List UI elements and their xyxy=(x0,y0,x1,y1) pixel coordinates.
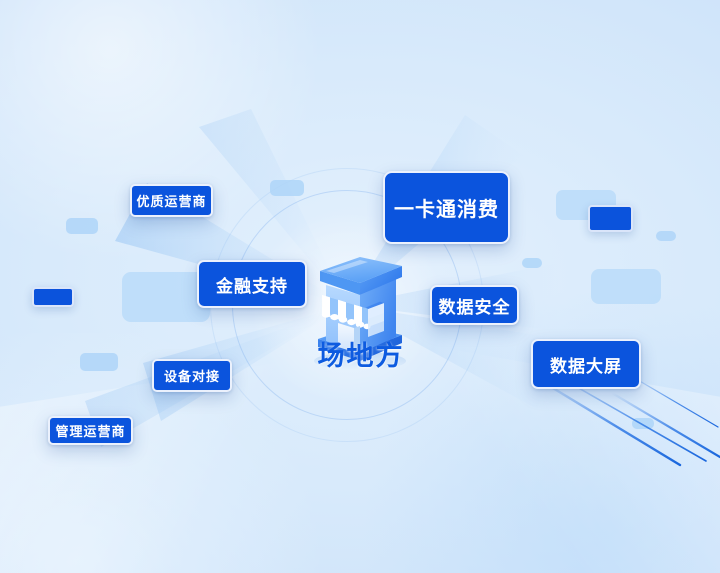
node-card-shuju-anquan[interactable]: 数据安全 xyxy=(430,285,519,325)
node-card-shuju-daping[interactable]: 数据大屏 xyxy=(531,339,641,389)
decor-rect-3 xyxy=(80,353,118,371)
decor-rect-4 xyxy=(270,180,304,196)
node-card-jinrong-zhichi[interactable]: 金融支持 xyxy=(197,260,307,308)
decor-rect-solid-left xyxy=(32,287,74,307)
decor-rect-7 xyxy=(522,258,542,268)
node-card-shebei-duijie[interactable]: 设备对接 xyxy=(152,359,232,392)
decor-rect-8 xyxy=(591,269,661,304)
decor-rect-solid-right xyxy=(588,205,633,232)
node-card-yikatong-xiaofei[interactable]: 一卡通消费 xyxy=(383,171,510,244)
node-card-guanli-yunyingshang[interactable]: 管理运营商 xyxy=(48,416,133,445)
decor-rect-5 xyxy=(556,190,616,220)
decor-rect-1 xyxy=(66,218,98,234)
decor-rect-6 xyxy=(656,231,676,241)
node-card-youzhi-yunyingshang[interactable]: 优质运营商 xyxy=(130,184,213,217)
hub-label: 场地方 xyxy=(268,334,454,373)
illustration-canvas: 场地方 一卡通消费 金融支持 优质运营商 设备对接 管理运营商 数据安全 数据大… xyxy=(0,0,720,573)
decor-rect-9 xyxy=(632,418,654,429)
diagonal-streak-lines xyxy=(530,373,720,513)
background-glow-top-left xyxy=(0,0,340,260)
radial-beams xyxy=(0,0,720,573)
